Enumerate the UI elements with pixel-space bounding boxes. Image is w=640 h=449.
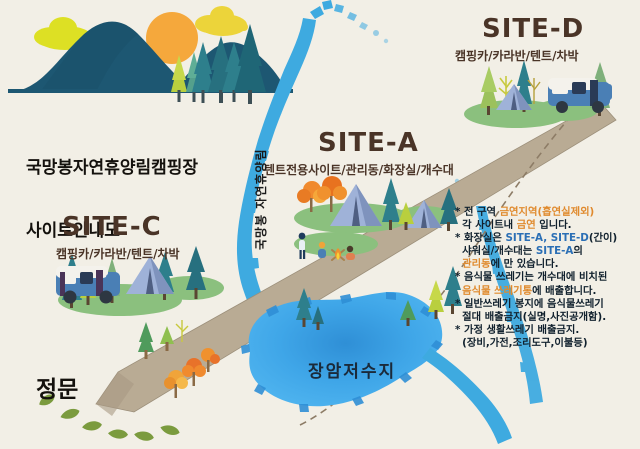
notice-text: SITE-A, SITE-D — [505, 232, 588, 244]
notice-text: (간이) — [589, 232, 617, 244]
gate-label: 정문 — [36, 370, 78, 404]
notice-bullet-icon: * — [455, 271, 464, 283]
notice-text: 의 — [573, 245, 582, 257]
notice-text: 일반쓰레기 봉지에 음식물쓰레기 — [464, 298, 604, 310]
notice-text: 입니다. — [536, 219, 572, 231]
notice-list: * 전 구역 금연지역(흡연실제외) 각 사이트내 금연 입니다.* 화장실은 … — [455, 206, 640, 350]
notice-line: (장비,가전,조리도구,이불등) — [455, 337, 640, 350]
notice-text: 화장실은 — [464, 232, 505, 244]
poster-title-line1: 국망봉자연휴양림캠핑장 — [26, 158, 198, 179]
notice-line: * 전 구역 금연지역(흡연실제외) — [455, 206, 640, 219]
notice-line: 각 사이트내 금연 입니다. — [455, 219, 640, 232]
notice-text: 에 배출합니다. — [532, 285, 596, 297]
notice-bullet-icon: * — [455, 206, 464, 218]
notice-text: 금연지역(흡연실제외) — [500, 206, 595, 218]
notice-text: 음식물 쓰레기통 — [462, 285, 532, 297]
notice-bullet-icon: * — [455, 298, 464, 310]
lake-label: 장암저수지 — [308, 357, 396, 382]
site-d-subtitle: 캠핑카/카라반/텐트/차박 — [455, 47, 579, 64]
notice-text: 샤워실/개수대 — [462, 245, 523, 257]
notice-text: 음식물 쓰레기는 개수대에 비치된 — [464, 271, 607, 283]
notice-bullet-icon: * — [455, 324, 464, 336]
notice-line: * 화장실은 SITE-A, SITE-D(간이) — [455, 232, 640, 245]
site-a-subtitle: 텐트전용사이트/관리동/화장실/개수대 — [264, 161, 454, 178]
notice-text: 절대 배출금지(실명,사진공개함). — [462, 311, 606, 323]
notice-text: (장비,가전,조리도구,이불등) — [462, 337, 587, 349]
site-c-title: SITE-C — [62, 212, 162, 242]
notice-text: 관리동 — [462, 258, 490, 270]
notice-text: 전 구역 — [464, 206, 500, 218]
stream-label: 국망봉 자연휴양림 — [252, 149, 269, 251]
notice-text: 각 사이트내 — [462, 219, 517, 231]
notice-line: * 일반쓰레기 봉지에 음식물쓰레기 — [455, 298, 640, 311]
notice-text: 금연 — [517, 219, 536, 231]
notice-line: * 가정 생활쓰레기 배출금지. — [455, 324, 640, 337]
notice-bullet-icon: * — [455, 232, 464, 244]
notice-line: 절대 배출금지(실명,사진공개함). — [455, 311, 640, 324]
site-c-subtitle: 캠핑카/카라반/텐트/차박 — [56, 245, 180, 262]
notice-text: SITE-A — [536, 245, 574, 257]
notice-line: 음식물 쓰레기통에 배출합니다. — [455, 285, 640, 298]
notice-line: 관리동에 만 있습니다. — [455, 258, 640, 271]
notice-text: 가정 생활쓰레기 배출금지. — [464, 324, 579, 336]
notice-text: 는 — [523, 245, 536, 257]
notice-line: * 음식물 쓰레기는 개수대에 비치된 — [455, 271, 640, 284]
notice-text: 에 만 있습니다. — [491, 258, 559, 270]
site-d-title: SITE-D — [482, 14, 584, 44]
site-a-title: SITE-A — [318, 128, 419, 158]
notice-line: 샤워실/개수대는 SITE-A의 — [455, 245, 640, 258]
